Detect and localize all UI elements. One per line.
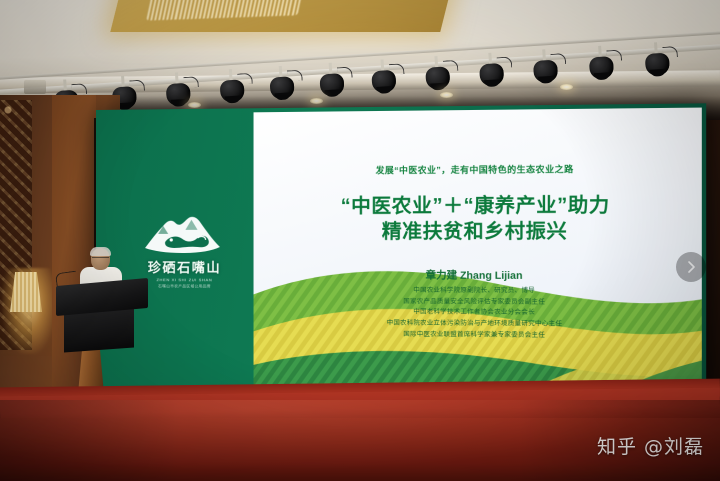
chevron-right-icon xyxy=(684,260,698,274)
podium-top xyxy=(56,278,148,316)
stage-spotlight-icon xyxy=(319,71,345,102)
next-image-button[interactable] xyxy=(676,252,706,282)
presentation-slide: 发展“中医农业”，走有中国特色的生态农业之路 “中医农业”＋“康养产业”助力 精… xyxy=(254,108,702,399)
stage-spotlight-icon xyxy=(219,77,245,108)
slide-title-line-1: “中医农业”＋“康养产业”助力 xyxy=(254,192,702,219)
ceiling-downlight-icon xyxy=(188,102,201,108)
slide-credentials: 中国农业科学院原副院长、研究员、博导 国家农产品质量安全风险评估专家委员会副主任… xyxy=(254,286,702,343)
stage-spotlight-icon xyxy=(269,74,295,105)
stage-spotlight-icon xyxy=(371,68,397,99)
mountain-bird-emblem-icon xyxy=(141,214,228,256)
slide-kicker: 发展“中医农业”，走有中国特色的生态农业之路 xyxy=(254,162,702,177)
slide-title: “中医农业”＋“康养产业”助力 精准扶贫和乡村振兴 xyxy=(254,192,702,245)
watermark: 知乎 @刘磊 xyxy=(597,432,704,459)
wall-sconce-lamp-icon xyxy=(10,272,42,312)
presenter-glasses-icon xyxy=(92,257,109,262)
stage-spotlight-icon xyxy=(645,51,671,82)
brand-name: 珍硒石嘴山 xyxy=(118,261,251,274)
stage-spotlight-icon xyxy=(479,61,505,92)
presenter-hair xyxy=(90,247,111,256)
stage-spotlight-icon xyxy=(589,54,615,85)
ceiling-downlight-icon xyxy=(310,98,323,104)
led-presentation-screen: 珍硒石嘴山 ZHEN XI SHI ZUI SHAN 石嘴山市农产品区域公用品牌… xyxy=(96,103,706,398)
slide-text-block: 发展“中医农业”，走有中国特色的生态农业之路 “中医农业”＋“康养产业”助力 精… xyxy=(254,108,702,343)
wall-plaque xyxy=(24,80,46,94)
stage-spotlight-icon xyxy=(533,58,559,89)
ceiling-downlight-icon xyxy=(440,92,453,98)
podium xyxy=(56,282,148,392)
stage-spotlight-icon xyxy=(166,81,192,112)
slide-title-line-2: 精准扶贫和乡村振兴 xyxy=(254,219,702,245)
conference-stage-photo: 珍硒石嘴山 ZHEN XI SHI ZUI SHAN 石嘴山市农产品区域公用品牌… xyxy=(0,0,720,481)
slide-speaker-name: 章力建 Zhang Lijian xyxy=(254,266,702,282)
ceiling-downlight-icon xyxy=(560,84,573,90)
